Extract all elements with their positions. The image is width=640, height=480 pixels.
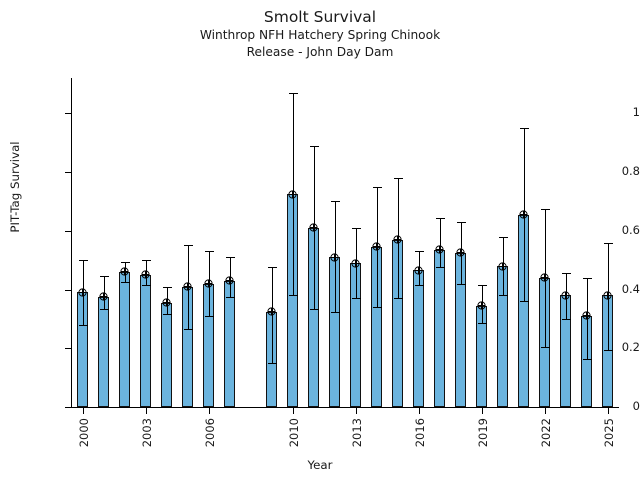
bar xyxy=(119,272,130,407)
x-tick-mark xyxy=(293,408,294,414)
x-tick-label: 2003 xyxy=(140,418,154,447)
x-tick-mark xyxy=(482,408,483,414)
error-bar-cap-upper xyxy=(184,245,193,246)
bar xyxy=(434,250,445,407)
chart-subtitle-reach: Release - John Day Dam xyxy=(0,45,640,59)
error-bar-cap-lower xyxy=(100,309,109,310)
x-tick-label: 2010 xyxy=(287,418,301,447)
error-bar-cap-lower xyxy=(289,295,298,296)
x-tick-mark xyxy=(608,408,609,414)
data-point-marker xyxy=(120,267,129,276)
x-tick-mark xyxy=(545,408,546,414)
error-bar-line xyxy=(440,218,441,268)
y-tick-mark xyxy=(65,290,71,291)
error-bar-cap-lower xyxy=(541,347,550,348)
error-bar-cap-upper xyxy=(562,273,571,274)
error-bar-cap-lower xyxy=(79,325,88,326)
error-bar-cap-upper xyxy=(352,228,361,229)
error-bar-cap-upper xyxy=(205,251,214,252)
error-bar-cap-lower xyxy=(184,329,193,330)
data-point-marker xyxy=(162,298,171,307)
x-tick-label: 2025 xyxy=(602,418,616,447)
error-bar-cap-lower xyxy=(331,312,340,313)
x-tick-mark xyxy=(83,408,84,414)
error-bar-cap-lower xyxy=(205,316,214,317)
error-bar-cap-lower xyxy=(268,363,277,364)
data-point-marker xyxy=(414,266,423,275)
error-bar-cap-lower xyxy=(352,298,361,299)
data-point-marker xyxy=(183,282,192,291)
error-bar-cap-upper xyxy=(520,128,529,129)
error-bar-cap-upper xyxy=(163,287,172,288)
data-point-marker xyxy=(78,288,87,297)
data-point-marker xyxy=(204,279,213,288)
error-bar-cap-upper xyxy=(79,260,88,261)
data-point-marker xyxy=(477,301,486,310)
chart-title: Smolt Survival xyxy=(0,8,640,26)
y-tick-mark xyxy=(65,407,71,408)
plot-area xyxy=(72,78,618,407)
data-point-marker xyxy=(288,190,297,199)
x-tick-label: 2006 xyxy=(203,418,217,447)
data-point-marker xyxy=(561,291,570,300)
error-bar-cap-upper xyxy=(604,243,613,244)
data-point-marker xyxy=(603,291,612,300)
data-point-marker xyxy=(456,248,465,257)
error-bar-cap-upper xyxy=(583,278,592,279)
error-bar-cap-lower xyxy=(121,282,130,283)
x-tick-label: 2016 xyxy=(413,418,427,447)
error-bar-cap-upper xyxy=(121,262,130,263)
error-bar-cap-lower xyxy=(583,359,592,360)
data-point-marker xyxy=(141,270,150,279)
data-point-marker xyxy=(435,245,444,254)
error-bar-cap-upper xyxy=(541,209,550,210)
error-bar-cap-lower xyxy=(310,309,319,310)
x-tick-label: 2022 xyxy=(539,418,553,447)
error-bar-cap-lower xyxy=(373,307,382,308)
error-bar-cap-lower xyxy=(436,267,445,268)
error-bar-cap-upper xyxy=(394,178,403,179)
error-bar-cap-lower xyxy=(142,285,151,286)
error-bar-cap-lower xyxy=(457,284,466,285)
x-axis-spine xyxy=(71,407,619,408)
error-bar-cap-upper xyxy=(142,260,151,261)
x-tick-mark xyxy=(209,408,210,414)
error-bar-cap-upper xyxy=(499,237,508,238)
data-point-marker xyxy=(225,276,234,285)
error-bar-cap-upper xyxy=(226,257,235,258)
bar xyxy=(224,281,235,407)
y-tick-mark xyxy=(65,348,71,349)
chart-subtitle-hatchery: Winthrop NFH Hatchery Spring Chinook xyxy=(0,28,640,42)
data-point-marker xyxy=(267,307,276,316)
y-axis-title: PIT-Tag Survival xyxy=(8,67,22,307)
data-point-marker xyxy=(582,311,591,320)
error-bar-cap-upper xyxy=(268,267,277,268)
error-bar-cap-lower xyxy=(163,314,172,315)
data-point-marker xyxy=(99,292,108,301)
bar xyxy=(98,297,109,407)
data-point-marker xyxy=(519,210,528,219)
error-bar-cap-lower xyxy=(478,323,487,324)
error-bar-cap-upper xyxy=(457,222,466,223)
data-point-marker xyxy=(351,259,360,268)
error-bar-cap-upper xyxy=(331,201,340,202)
bar xyxy=(161,303,172,407)
chart-figure: Smolt Survival Winthrop NFH Hatchery Spr… xyxy=(0,0,640,480)
error-bar-cap-upper xyxy=(373,187,382,188)
error-bar-cap-upper xyxy=(415,251,424,252)
error-bar-cap-lower xyxy=(394,298,403,299)
data-point-marker xyxy=(309,223,318,232)
data-point-marker xyxy=(498,262,507,271)
x-tick-mark xyxy=(356,408,357,414)
x-tick-mark xyxy=(419,408,420,414)
error-bar-cap-lower xyxy=(226,297,235,298)
error-bar-cap-upper xyxy=(436,218,445,219)
error-bar-cap-upper xyxy=(478,285,487,286)
error-bar-cap-upper xyxy=(100,276,109,277)
x-tick-label: 2019 xyxy=(476,418,490,447)
x-axis-title: Year xyxy=(0,458,640,472)
bar xyxy=(413,270,424,407)
error-bar-cap-lower xyxy=(604,350,613,351)
error-bar-cap-lower xyxy=(562,319,571,320)
error-bar-cap-upper xyxy=(289,93,298,94)
error-bar-cap-lower xyxy=(499,295,508,296)
y-tick-mark xyxy=(65,113,71,114)
x-tick-label: 2000 xyxy=(77,418,91,447)
data-point-marker xyxy=(372,242,381,251)
data-point-marker xyxy=(393,235,402,244)
y-tick-mark xyxy=(65,231,71,232)
data-point-marker xyxy=(330,253,339,262)
error-bar-cap-upper xyxy=(310,146,319,147)
y-tick-mark xyxy=(65,172,71,173)
error-bar-cap-lower xyxy=(520,301,529,302)
bar xyxy=(140,275,151,407)
data-point-marker xyxy=(540,273,549,282)
error-bar-cap-lower xyxy=(415,285,424,286)
x-tick-mark xyxy=(146,408,147,414)
x-tick-label: 2013 xyxy=(350,418,364,447)
